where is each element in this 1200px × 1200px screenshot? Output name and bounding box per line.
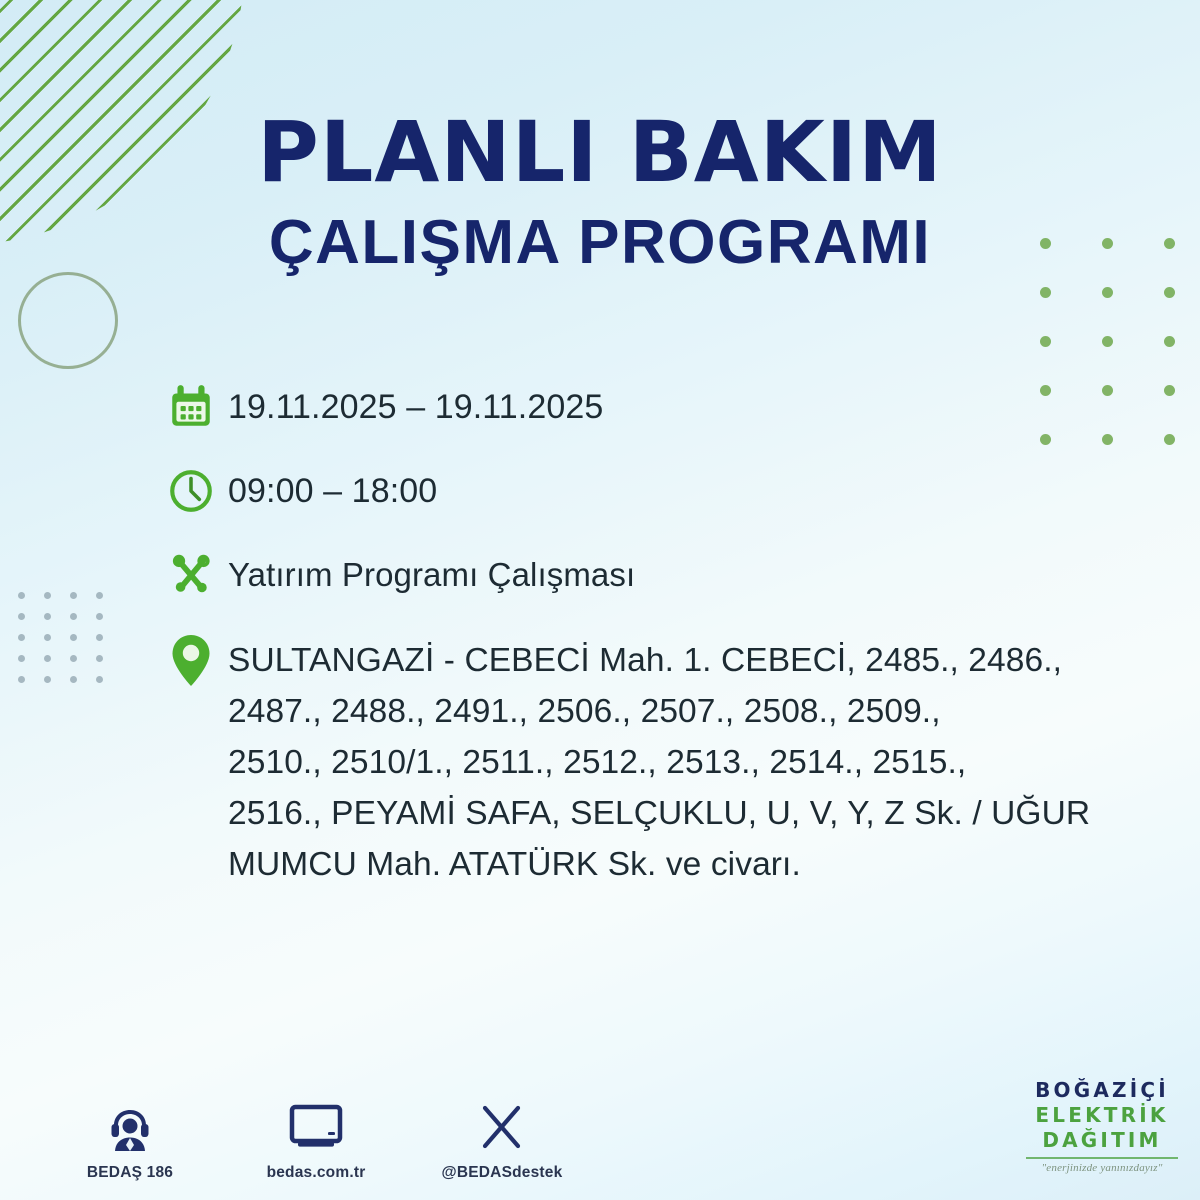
- contact-label: BEDAŞ 186: [60, 1164, 200, 1182]
- contact-website[interactable]: bedas.com.tr: [246, 1093, 386, 1182]
- address-line: SULTANGAZİ - CEBECİ Mah. 1. CEBECİ, 2485…: [228, 642, 1062, 679]
- poster-heading: PLANLI BAKIM ÇALIŞMA PROGRAMI: [0, 110, 1200, 281]
- contact-label: @BEDASdestek: [432, 1164, 572, 1182]
- detail-row-date: 19.11.2025 – 19.11.2025: [166, 378, 1176, 436]
- tools-icon: [166, 546, 228, 604]
- detail-row-location: SULTANGAZİ - CEBECİ Mah. 1. CEBECİ, 2485…: [166, 630, 1176, 891]
- brand-line-bogazici: BOĞAZİÇİ: [1026, 1080, 1178, 1100]
- calendar-icon: [166, 378, 228, 436]
- page-subtitle: ÇALIŞMA PROGRAMI: [0, 204, 1200, 282]
- brand-tagline: "enerjinizde yanınızdayız": [1026, 1163, 1178, 1174]
- detail-row-work-type: Yatırım Programı Çalışması: [166, 546, 1176, 604]
- monitor-icon: [246, 1093, 386, 1155]
- detail-row-time: 09:00 – 18:00: [166, 462, 1176, 520]
- poster-footer: BEDAŞ 186 bedas.com.tr: [0, 1030, 1200, 1200]
- contact-x-twitter[interactable]: @BEDASdestek: [432, 1093, 572, 1182]
- headset-support-icon: [60, 1093, 200, 1155]
- location-pin-icon: [166, 630, 228, 688]
- maintenance-details: 19.11.2025 – 19.11.2025 09:00 – 18:00: [166, 378, 1176, 891]
- bedas-logo: BOĞAZİÇİ ELEKTRİK DAĞITIM "enerjinizde y…: [1026, 1080, 1178, 1174]
- circle-outline-decoration: [18, 272, 118, 369]
- affected-streets-text: SULTANGAZİ - CEBECİ Mah. 1. CEBECİ, 2485…: [228, 630, 1090, 891]
- contact-channels: BEDAŞ 186 bedas.com.tr: [60, 1093, 572, 1182]
- x-twitter-icon: [432, 1093, 572, 1155]
- contact-call-center[interactable]: BEDAŞ 186: [60, 1093, 200, 1182]
- page-title: PLANLI BAKIM: [0, 110, 1200, 196]
- brand-line-dagitim: DAĞITIM: [1026, 1130, 1178, 1150]
- clock-icon: [166, 462, 228, 520]
- address-line: 2487., 2488., 2491., 2506., 2507., 2508.…: [228, 693, 941, 730]
- brand-divider: [1026, 1157, 1178, 1159]
- planned-maintenance-poster: PLANLI BAKIM ÇALIŞMA PROGRAMI: [0, 0, 1200, 1200]
- maintenance-date-range: 19.11.2025 – 19.11.2025: [228, 378, 603, 431]
- maintenance-time-range: 09:00 – 18:00: [228, 462, 437, 515]
- address-line: MUMCU Mah. ATATÜRK Sk. ve civarı.: [228, 846, 801, 883]
- contact-label: bedas.com.tr: [246, 1164, 386, 1182]
- work-type-label: Yatırım Programı Çalışması: [228, 546, 635, 598]
- brand-line-elektrik: ELEKTRİK: [1026, 1105, 1178, 1125]
- dot-grid-left-decoration: [18, 592, 122, 697]
- address-line: 2516., PEYAMİ SAFA, SELÇUKLU, U, V, Y, Z…: [228, 795, 1090, 832]
- address-line: 2510., 2510/1., 2511., 2512., 2513., 251…: [228, 744, 966, 781]
